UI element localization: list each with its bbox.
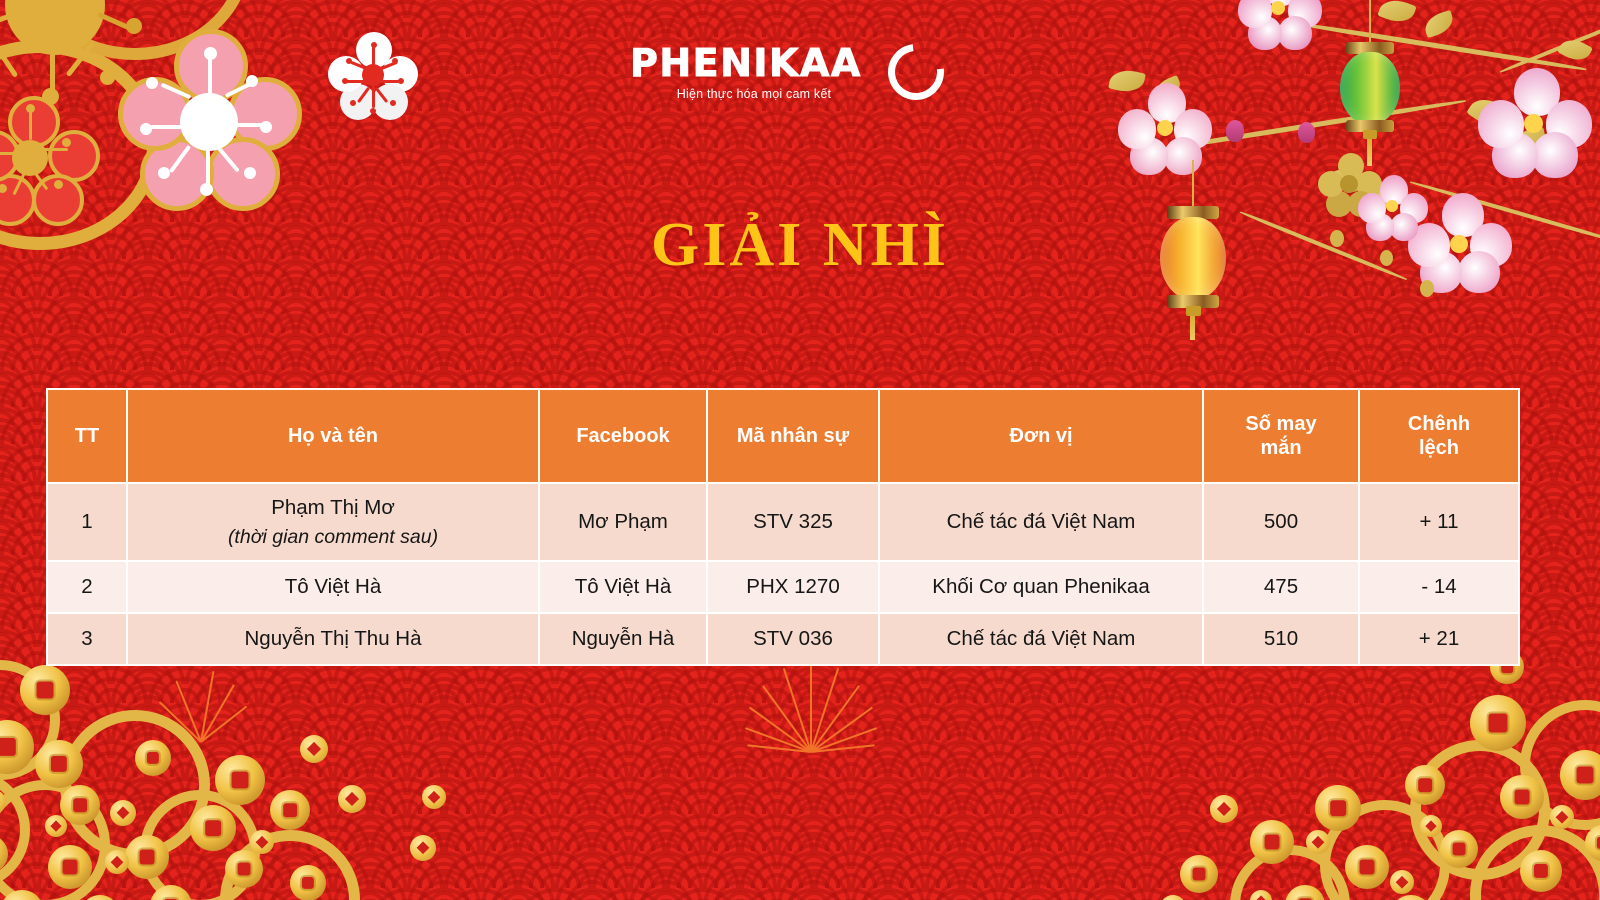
cell-ma-nhan-su: STV 036 <box>707 613 879 665</box>
column-header-tt: TT <box>47 389 127 483</box>
cell-chenh-lech: - 14 <box>1359 561 1519 613</box>
table-header-row: TT Họ và tên Facebook Mã nhân sự Đơn vị … <box>47 389 1519 483</box>
cell-so-may-man: 500 <box>1203 483 1359 561</box>
cell-facebook: Mơ Phạm <box>539 483 707 561</box>
column-header-chenh-lech: Chênh lệch <box>1359 389 1519 483</box>
column-header-so-may-man: Số may mắn <box>1203 389 1359 483</box>
cell-name: Tô Việt Hà <box>127 561 539 613</box>
cell-chenh-lech: + 11 <box>1359 483 1519 561</box>
winners-table: TT Họ và tên Facebook Mã nhân sự Đơn vị … <box>46 388 1520 666</box>
cell-so-may-man: 475 <box>1203 561 1359 613</box>
page-title: GIẢI NHÌ <box>0 210 1600 281</box>
cell-tt: 3 <box>47 613 127 665</box>
table-header: TT Họ và tên Facebook Mã nhân sự Đơn vị … <box>47 389 1519 483</box>
so-may-man-line1: Số may <box>1245 413 1316 435</box>
phenikaa-logo: PHENIKAA Hiện thực hóa mọi cam kết <box>630 40 940 110</box>
table-row: 3 Nguyễn Thị Thu Hà Nguyễn Hà STV 036 Ch… <box>47 613 1519 665</box>
winners-table-wrapper: TT Họ và tên Facebook Mã nhân sự Đơn vị … <box>46 388 1518 666</box>
cell-facebook: Nguyễn Hà <box>539 613 707 665</box>
table-row: 1 Phạm Thị Mơ (thời gian comment sau) Mơ… <box>47 483 1519 561</box>
cell-name: Phạm Thị Mơ (thời gian comment sau) <box>127 483 539 561</box>
cell-tt: 1 <box>47 483 127 561</box>
chenh-lech-line2: lệch <box>1419 437 1459 459</box>
column-header-name: Họ và tên <box>127 389 539 483</box>
cell-don-vi: Khối Cơ quan Phenikaa <box>879 561 1203 613</box>
cell-chenh-lech: + 21 <box>1359 613 1519 665</box>
winner-name: Phạm Thị Mơ <box>271 496 395 519</box>
cell-don-vi: Chế tác đá Việt Nam <box>879 613 1203 665</box>
column-header-don-vi: Đơn vị <box>879 389 1203 483</box>
cell-name: Nguyễn Thị Thu Hà <box>127 613 539 665</box>
table-row: 2 Tô Việt Hà Tô Việt Hà PHX 1270 Khối Cơ… <box>47 561 1519 613</box>
slide-canvas: PHENIKAA Hiện thực hóa mọi cam kết GIẢI … <box>0 0 1600 900</box>
cell-so-may-man: 510 <box>1203 613 1359 665</box>
column-header-facebook: Facebook <box>539 389 707 483</box>
logo-tagline: Hiện thực hóa mọi cam kết <box>630 87 878 101</box>
cell-facebook: Tô Việt Hà <box>539 561 707 613</box>
cell-don-vi: Chế tác đá Việt Nam <box>879 483 1203 561</box>
cell-tt: 2 <box>47 561 127 613</box>
cell-ma-nhan-su: STV 325 <box>707 483 879 561</box>
cell-ma-nhan-su: PHX 1270 <box>707 561 879 613</box>
chenh-lech-line1: Chênh <box>1408 413 1470 435</box>
table-body: 1 Phạm Thị Mơ (thời gian comment sau) Mơ… <box>47 483 1519 665</box>
so-may-man-line2: mắn <box>1260 437 1301 459</box>
column-header-ma-nhan-su: Mã nhân sự <box>707 389 879 483</box>
winner-name-note: (thời gian comment sau) <box>134 524 532 550</box>
